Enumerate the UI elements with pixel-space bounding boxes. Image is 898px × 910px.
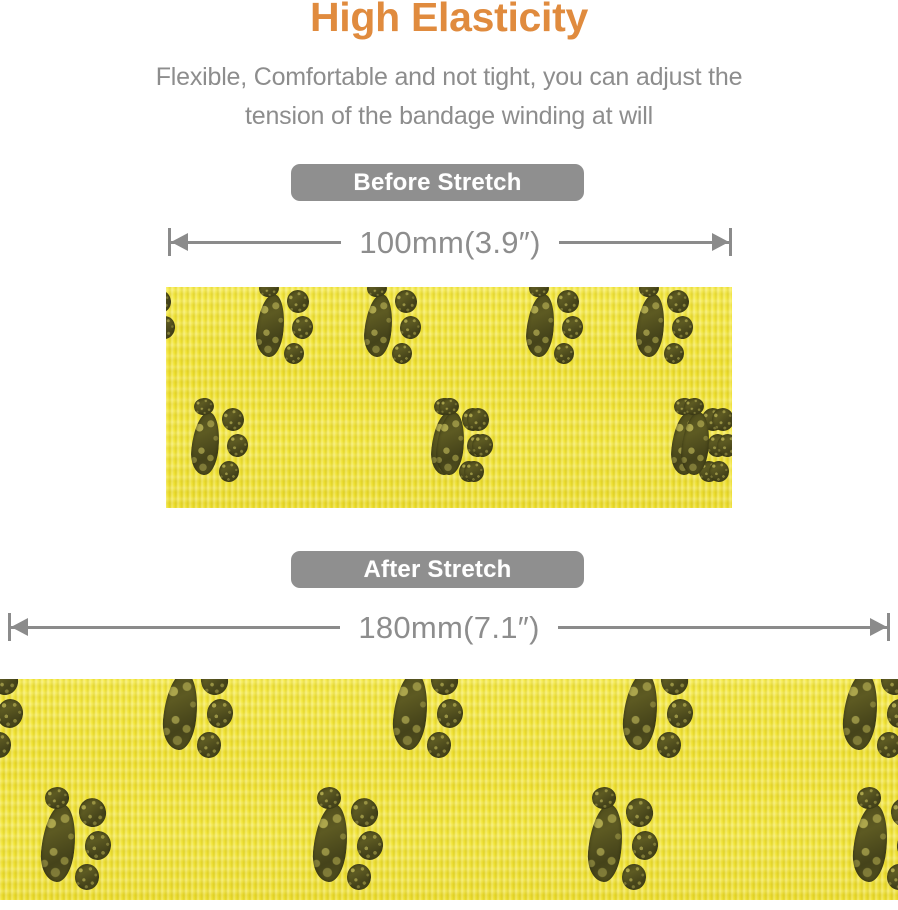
arrow-right-icon	[870, 618, 887, 636]
paw-pad	[620, 679, 661, 751]
paw-toe	[621, 864, 647, 892]
paw-print-icon	[431, 398, 501, 479]
paw-pad	[634, 293, 667, 358]
paw-pad	[850, 802, 891, 883]
paw-print-icon	[582, 787, 668, 888]
paw-print-icon	[631, 287, 701, 362]
dimension-after-stretch: 180mm(7.1″)	[8, 604, 890, 650]
paw-toe	[553, 342, 574, 364]
dimension-label-after: 180mm(7.1″)	[340, 612, 557, 643]
arrow-left-icon	[11, 618, 28, 636]
paw-pad	[160, 679, 201, 751]
paw-print-icon	[359, 287, 429, 362]
dimension-line-left	[11, 613, 340, 641]
paw-pad	[189, 411, 222, 476]
dimension-line-right	[558, 613, 887, 641]
paw-toe	[663, 342, 684, 364]
paw-toe	[290, 315, 315, 341]
paw-pad	[434, 411, 467, 476]
paw-toe	[886, 864, 898, 892]
paw-toe	[391, 342, 412, 364]
paw-toe	[560, 315, 585, 341]
paw-print-icon	[847, 787, 898, 888]
paw-toe	[670, 315, 695, 341]
badge-after-stretch: After Stretch	[291, 551, 584, 588]
paw-toe	[166, 288, 173, 315]
dimension-cap-right	[887, 613, 890, 641]
paw-pattern-after	[0, 679, 898, 900]
paw-toe	[285, 288, 311, 315]
dimension-rule	[558, 626, 887, 629]
paw-pad	[310, 802, 351, 883]
paw-toe	[876, 732, 898, 760]
paw-toe	[715, 433, 732, 459]
paw-print-icon	[307, 787, 393, 888]
paw-print-icon	[617, 679, 703, 755]
bandage-image-after-stretch	[0, 679, 898, 900]
paw-toe	[196, 732, 222, 760]
dimension-line-left	[171, 228, 341, 256]
subtitle-line-1: Flexible, Comfortable and not tight, you…	[60, 58, 838, 97]
bottom-white-band	[0, 900, 898, 910]
paw-pad	[38, 802, 79, 883]
dimension-rule	[171, 241, 341, 244]
paw-pad	[362, 293, 395, 358]
paw-print-icon	[186, 398, 256, 479]
paw-pad	[524, 293, 557, 358]
paw-toe	[283, 342, 304, 364]
infographic-page: High Elasticity Flexible, Comfortable an…	[0, 0, 898, 910]
paw-toe	[465, 406, 491, 433]
paw-toe	[879, 679, 898, 697]
paw-toe	[205, 697, 236, 730]
paw-toe	[220, 406, 246, 433]
paw-toe	[349, 796, 382, 830]
paw-print-icon	[166, 287, 183, 362]
dimension-rule	[11, 626, 340, 629]
paw-toe	[435, 697, 466, 730]
arrow-left-icon	[171, 233, 188, 251]
paw-toe	[218, 460, 239, 482]
arrow-right-icon	[712, 233, 729, 251]
paw-toe	[624, 796, 657, 830]
paw-toe	[426, 732, 452, 760]
badge-before-stretch: Before Stretch	[291, 164, 584, 201]
paw-toe	[355, 829, 386, 862]
bandage-image-before-stretch	[166, 287, 732, 508]
dimension-line-right	[559, 228, 729, 256]
paw-toe	[429, 679, 462, 697]
paw-pad	[679, 411, 712, 476]
paw-pattern-before	[166, 287, 732, 508]
paw-toe	[225, 433, 250, 459]
paw-pad	[254, 293, 287, 358]
paw-toe	[0, 732, 12, 760]
paw-toe	[659, 679, 692, 697]
dimension-rule	[559, 241, 729, 244]
paw-print-icon	[0, 679, 33, 755]
paw-toe	[656, 732, 682, 760]
paw-toe	[393, 288, 419, 315]
paw-pad	[585, 802, 626, 883]
paw-toe	[463, 460, 484, 482]
paw-toe	[708, 460, 729, 482]
subtitle-line-2: tension of the bandage winding at will	[60, 97, 838, 136]
paw-print-icon	[387, 679, 473, 755]
dimension-before-stretch: 100mm(3.9″)	[168, 219, 732, 265]
paw-toe	[0, 697, 25, 730]
paw-print-icon	[35, 787, 121, 888]
paw-toe	[665, 697, 696, 730]
paw-toe	[83, 829, 114, 862]
paw-print-icon	[837, 679, 898, 755]
paw-toe	[665, 288, 691, 315]
paw-toe	[166, 315, 177, 341]
page-title: High Elasticity	[0, 0, 898, 41]
paw-print-icon	[521, 287, 591, 362]
paw-pad	[390, 679, 431, 751]
paw-toe	[0, 679, 21, 697]
paw-print-icon	[157, 679, 243, 755]
paw-toe	[74, 864, 100, 892]
paw-toe	[77, 796, 110, 830]
paw-toe	[398, 315, 423, 341]
paw-toe	[630, 829, 661, 862]
paw-toe	[555, 288, 581, 315]
paw-print-icon	[676, 398, 732, 479]
paw-toe	[470, 433, 495, 459]
paw-toe	[710, 406, 732, 433]
page-subtitle: Flexible, Comfortable and not tight, you…	[60, 58, 838, 136]
paw-toe	[885, 697, 898, 730]
paw-toe	[889, 796, 898, 830]
paw-pad	[840, 679, 881, 751]
paw-toe	[199, 679, 232, 697]
paw-print-icon	[251, 287, 321, 362]
paw-toe	[346, 864, 372, 892]
dimension-cap-right	[729, 228, 732, 256]
dimension-label-before: 100mm(3.9″)	[341, 227, 558, 258]
